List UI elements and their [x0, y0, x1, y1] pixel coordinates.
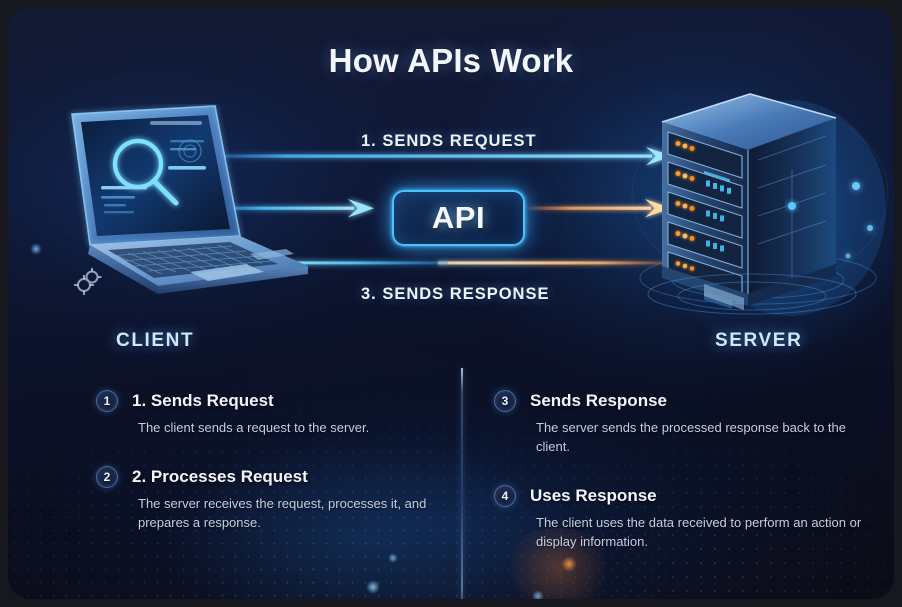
list-item[interactable]: 4 Uses Response The client uses the data… — [494, 484, 869, 551]
infographic-panel: How APIs Work — [8, 8, 894, 599]
step-title: Sends Response — [530, 389, 869, 413]
particle-blue-3 — [532, 590, 544, 599]
step-title: Uses Response — [530, 484, 869, 508]
step-badge: 3 — [494, 390, 516, 412]
step-badge: 1 — [96, 390, 118, 412]
api-node[interactable]: API — [392, 190, 525, 246]
step-title: 1. Sends Request — [132, 389, 471, 413]
step-badge: 4 — [494, 485, 516, 507]
step-description: The server sends the processed response … — [536, 418, 866, 456]
list-item[interactable]: 1 1. Sends Request The client sends a re… — [96, 389, 471, 437]
particle-blue-5 — [30, 243, 42, 255]
endpoint-label-server: SERVER — [715, 330, 802, 352]
infographic-frame: How APIs Work — [0, 0, 902, 607]
arrow-label-sends-response: 3. SENDS RESPONSE — [361, 285, 549, 304]
arrow-sends-response — [438, 261, 670, 264]
server-rack-icon — [640, 88, 890, 318]
step-title: 2. Processes Request — [132, 465, 471, 489]
list-item[interactable]: 3 Sends Response The server sends the pr… — [494, 389, 869, 456]
endpoint-label-client: CLIENT — [116, 330, 194, 352]
steps-column-right: 3 Sends Response The server sends the pr… — [494, 389, 869, 579]
page-title: How APIs Work — [8, 42, 894, 80]
list-item[interactable]: 2 2. Processes Request The server receiv… — [96, 465, 471, 532]
gear-icon — [70, 263, 106, 299]
steps-column-left: 1 1. Sends Request The client sends a re… — [96, 389, 471, 560]
arrow-label-sends-request: 1. SENDS REQUEST — [361, 132, 537, 151]
step-description: The client sends a request to the server… — [138, 418, 460, 437]
api-node-label: API — [432, 200, 485, 236]
step-description: The client uses the data received to per… — [536, 513, 866, 551]
step-description: The server receives the request, process… — [138, 494, 460, 532]
particle-blue-1 — [366, 580, 380, 594]
step-badge: 2 — [96, 466, 118, 488]
